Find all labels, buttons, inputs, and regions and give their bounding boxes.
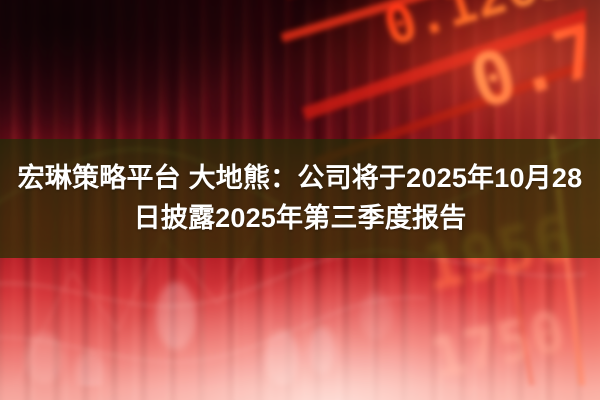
news-banner-image: 0.1265 0.70 1956 1750: [0, 0, 600, 400]
caption-text-block: 宏琳策略平台 大地熊：公司将于2025年10月28 日披露2025年第三季度报告: [0, 139, 600, 258]
caption-line-1: 宏琳策略平台 大地熊：公司将于2025年10月28: [18, 161, 583, 197]
caption-line-2: 日披露2025年第三季度报告: [134, 201, 467, 237]
